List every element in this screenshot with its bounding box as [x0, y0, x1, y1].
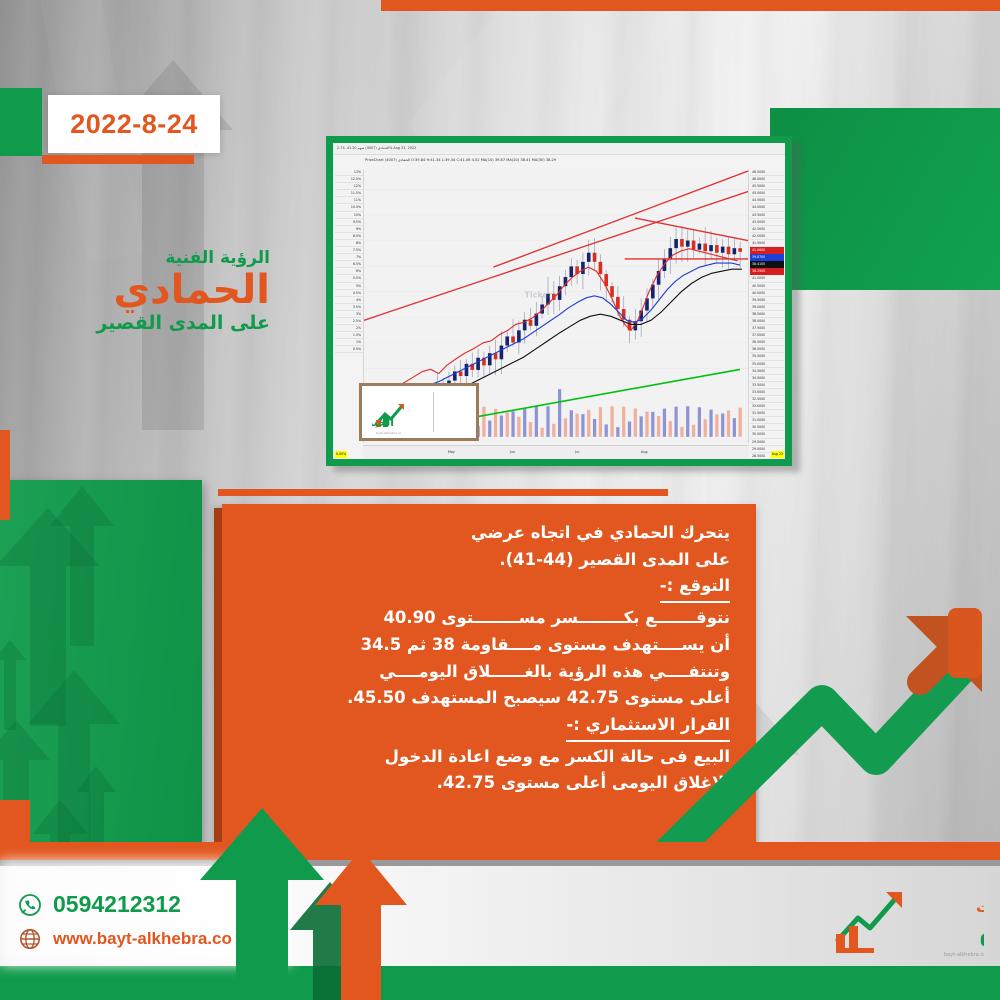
chart-left-tick: 1.5%: [335, 332, 363, 339]
chart-price-tick: 43.0000: [750, 219, 784, 226]
chart-right-price-axis: 46.500046.000045.500045.000044.500044.00…: [750, 169, 784, 443]
volume-bar: [721, 413, 724, 436]
volume-bar: [727, 410, 730, 437]
volume-bar: [733, 418, 736, 437]
whatsapp-icon: [18, 893, 42, 917]
chart-left-tick: 10%: [335, 212, 363, 219]
chart-price-tick: 36.0000: [750, 346, 784, 353]
volume-bar: [698, 407, 701, 437]
chart-price-tick: 41.0000: [750, 275, 784, 282]
volume-bar: [657, 416, 660, 437]
chart-price-tick: 40.0000: [750, 290, 784, 297]
chart-logo-watermark-box: الخبرة bayt-alkhebra.co: [359, 383, 479, 441]
phone-number: 0594212312: [53, 891, 181, 918]
chart-price-tick: 34.5000: [750, 368, 784, 375]
logo-bar-1: [836, 934, 845, 950]
date-badge-underline: [42, 155, 194, 164]
svg-text:الخبرة: الخبرة: [372, 416, 394, 429]
volume-bar: [517, 417, 520, 437]
analysis-line: يتحرك الحمادي في اتجاه عرضي: [246, 520, 730, 547]
volume-bar: [674, 407, 677, 437]
volume-bar: [651, 412, 654, 437]
volume-bar: [552, 424, 555, 437]
chart-price-tick: 32.5000: [750, 396, 784, 403]
chart-price-tick: 42.0000: [750, 233, 784, 240]
chart-price-tick: 37.5000: [750, 325, 784, 332]
brand-logo-svg: بيت الخبرة bayt-alkhebra.co: [824, 884, 984, 964]
volume-bar: [628, 421, 631, 436]
volume-bar: [529, 422, 532, 437]
chart-price-tick: 29.5000: [750, 439, 784, 446]
chart-price-tag: 39.8700: [750, 254, 784, 261]
chart-price-tick: 30.5000: [750, 424, 784, 431]
chart-price-tick: 45.0000: [750, 190, 784, 197]
chart-price-tick: 42.5000: [750, 226, 784, 233]
chart-left-tick: 6%: [335, 268, 363, 275]
chart-left-tick: 3%: [335, 311, 363, 318]
section-divider: [218, 489, 668, 496]
volume-bar: [488, 421, 491, 437]
chart-price-tag: 38.2900: [750, 268, 784, 275]
logo-tagline: bayt-alkhebra.co: [944, 952, 984, 958]
bottom-green-bar: [0, 966, 1000, 1000]
top-accent-bar: [381, 0, 1000, 11]
chart-price-tick: 34.0000: [750, 375, 784, 382]
volume-bar: [570, 410, 573, 437]
chart-price-tick: 31.5000: [750, 410, 784, 417]
chart-left-tick: 12.5%: [335, 176, 363, 183]
globe-icon: [18, 927, 42, 951]
chart-left-tick: 12%: [335, 183, 363, 190]
chart-price-tick: 33.0000: [750, 389, 784, 396]
chart-left-tick: 0.5%: [335, 346, 363, 353]
volume-bar: [634, 408, 637, 436]
bottom-orange-arrow: [315, 849, 407, 1000]
chart-watermark: Tickers: [525, 291, 557, 300]
volume-bar: [511, 411, 514, 437]
chart-left-tick: 4%: [335, 297, 363, 304]
chart-price-tick: 31.0000: [750, 417, 784, 424]
decorative-orange-bar-left-2: [0, 430, 10, 520]
chart-price-tick: 37.0000: [750, 332, 784, 339]
chart-legend: PriceChart الحمادي (4007) O:39.84 H:41.3…: [365, 158, 556, 162]
chart-price-tick: 45.5000: [750, 183, 784, 190]
chart-left-tick: 7%: [335, 254, 363, 261]
chart-left-tick: 11%: [335, 197, 363, 204]
chart-watermark-logo: الخبرة: [372, 400, 430, 434]
chart-price-tick: 36.5000: [750, 339, 784, 346]
chart-left-tick: 11.5%: [335, 190, 363, 197]
chart-left-tick: 13%: [335, 169, 363, 176]
volume-bar: [546, 406, 549, 437]
chart-x-label: Jul: [575, 450, 579, 454]
volume-bar: [715, 414, 718, 437]
chart-area: PriceChart الحمادي (4007) O:39.84 H:41.3…: [333, 155, 785, 459]
chart-price-tick: 46.0000: [750, 176, 784, 183]
chart-price-tick: 38.0000: [750, 318, 784, 325]
volume-bar: [616, 427, 619, 437]
bottom-green-arrow: [200, 808, 324, 1000]
chart-left-tick: 1%: [335, 339, 363, 346]
decorative-green-panel: [0, 480, 202, 880]
volume-bar: [535, 407, 538, 437]
chart-x-label: Aug: [641, 450, 648, 454]
chart-price-tick: 33.5000: [750, 382, 784, 389]
volume-bar: [558, 389, 561, 437]
chart-left-tick: 8%: [335, 240, 363, 247]
decorative-square-3: [948, 608, 982, 678]
volume-bar: [523, 408, 526, 437]
volume-bar: [581, 414, 584, 437]
chart-left-tick: 2%: [335, 325, 363, 332]
volume-bar: [645, 412, 648, 437]
chart-price-tick: 35.5000: [750, 353, 784, 360]
headline-line-3: على المدى القصير: [40, 312, 270, 335]
volume-bar: [692, 425, 695, 437]
chart-price-tick: 39.5000: [750, 297, 784, 304]
date-badge: 2022-8-24: [48, 95, 220, 153]
chart-x-label: May: [448, 450, 455, 454]
logo-growth-line: [838, 898, 896, 940]
headline-line-2: الحمادي: [40, 270, 270, 311]
volume-bar: [640, 416, 643, 437]
chart-toolbar: الحمادي (4007) سهم 41.20 -2.73% Aug 23, …: [333, 143, 785, 155]
chart-price-tick: 46.5000: [750, 169, 784, 176]
chart-left-tick: 9.5%: [335, 219, 363, 226]
volume-bar: [610, 406, 613, 437]
volume-bar: [506, 412, 509, 437]
date-badge-accent: [0, 88, 42, 156]
volume-bar: [739, 408, 742, 437]
chart-price-tick: 44.0000: [750, 204, 784, 211]
chart-left-tick: 6.5%: [335, 261, 363, 268]
logo-base: [836, 948, 874, 953]
chart-screenshot-card: الحمادي (4007) سهم 41.20 -2.73% Aug 23, …: [326, 136, 792, 466]
volume-bar: [605, 424, 608, 436]
chart-left-tick: 10.5%: [335, 204, 363, 211]
chart-left-tick: 4.5%: [335, 290, 363, 297]
brand-logo: بيت الخبرة bayt-alkhebra.co: [824, 884, 984, 964]
bottom-orange-bar: [0, 842, 1000, 860]
chart-left-tick: 3.5%: [335, 304, 363, 311]
chart-price-tag: 38.4100: [750, 261, 784, 268]
volume-bar: [564, 418, 567, 436]
chart-left-tick: 5%: [335, 283, 363, 290]
page-title: الرؤية الفنية الحمادي على المدى القصير: [40, 248, 270, 335]
volume-bar: [663, 409, 666, 437]
chart-x-axis: MayJunJulAug: [363, 445, 749, 458]
volume-bar: [704, 419, 707, 437]
volume-bar: [482, 407, 485, 437]
volume-bar: [709, 410, 712, 437]
top-right-green-block: [770, 108, 1000, 290]
volume-bar: [680, 427, 683, 437]
logo-main-text: الخبرة: [979, 914, 984, 955]
volume-bar: [593, 419, 596, 437]
volume-bar: [686, 406, 689, 437]
chart-price-tick: 39.0000: [750, 304, 784, 311]
chart-price-tick: 30.0000: [750, 431, 784, 438]
chart-price-tick: 35.0000: [750, 361, 784, 368]
headline-line-1: الرؤية الفنية: [40, 248, 270, 269]
volume-bar: [541, 428, 544, 437]
chart-price-tick: 41.5000: [750, 240, 784, 247]
chart-x-label: Jun: [510, 450, 515, 454]
chart-left-tick: 8.5%: [335, 233, 363, 240]
volume-bar: [669, 421, 672, 437]
chart-left-tick: 7.5%: [335, 247, 363, 254]
chart-price-tick: 40.5000: [750, 283, 784, 290]
chart-right-tag: Aug 23: [771, 451, 784, 458]
chart-left-tag: 0.00%: [335, 451, 347, 458]
chart-left-tick: 2.5%: [335, 318, 363, 325]
chart-price-tick: 43.5000: [750, 212, 784, 219]
chart-price-tick: 44.5000: [750, 197, 784, 204]
chart-left-tick: 9%: [335, 226, 363, 233]
chart-price-tag: 41.0600: [750, 247, 784, 254]
volume-bar: [622, 407, 625, 437]
chart-toolbar-text: الحمادي (4007) سهم 41.20 -2.73% Aug 23, …: [337, 146, 416, 150]
volume-bar: [599, 407, 602, 437]
volume-bar: [500, 416, 503, 437]
chart-price-tick: 32.0000: [750, 403, 784, 410]
chart-left-tick: 5.5%: [335, 275, 363, 282]
logo-bar-2: [849, 926, 858, 950]
chart-price-tick: 38.5000: [750, 311, 784, 318]
volume-bar: [587, 410, 590, 437]
date-text: 2022-8-24: [70, 109, 198, 140]
volume-bar: [575, 414, 578, 437]
